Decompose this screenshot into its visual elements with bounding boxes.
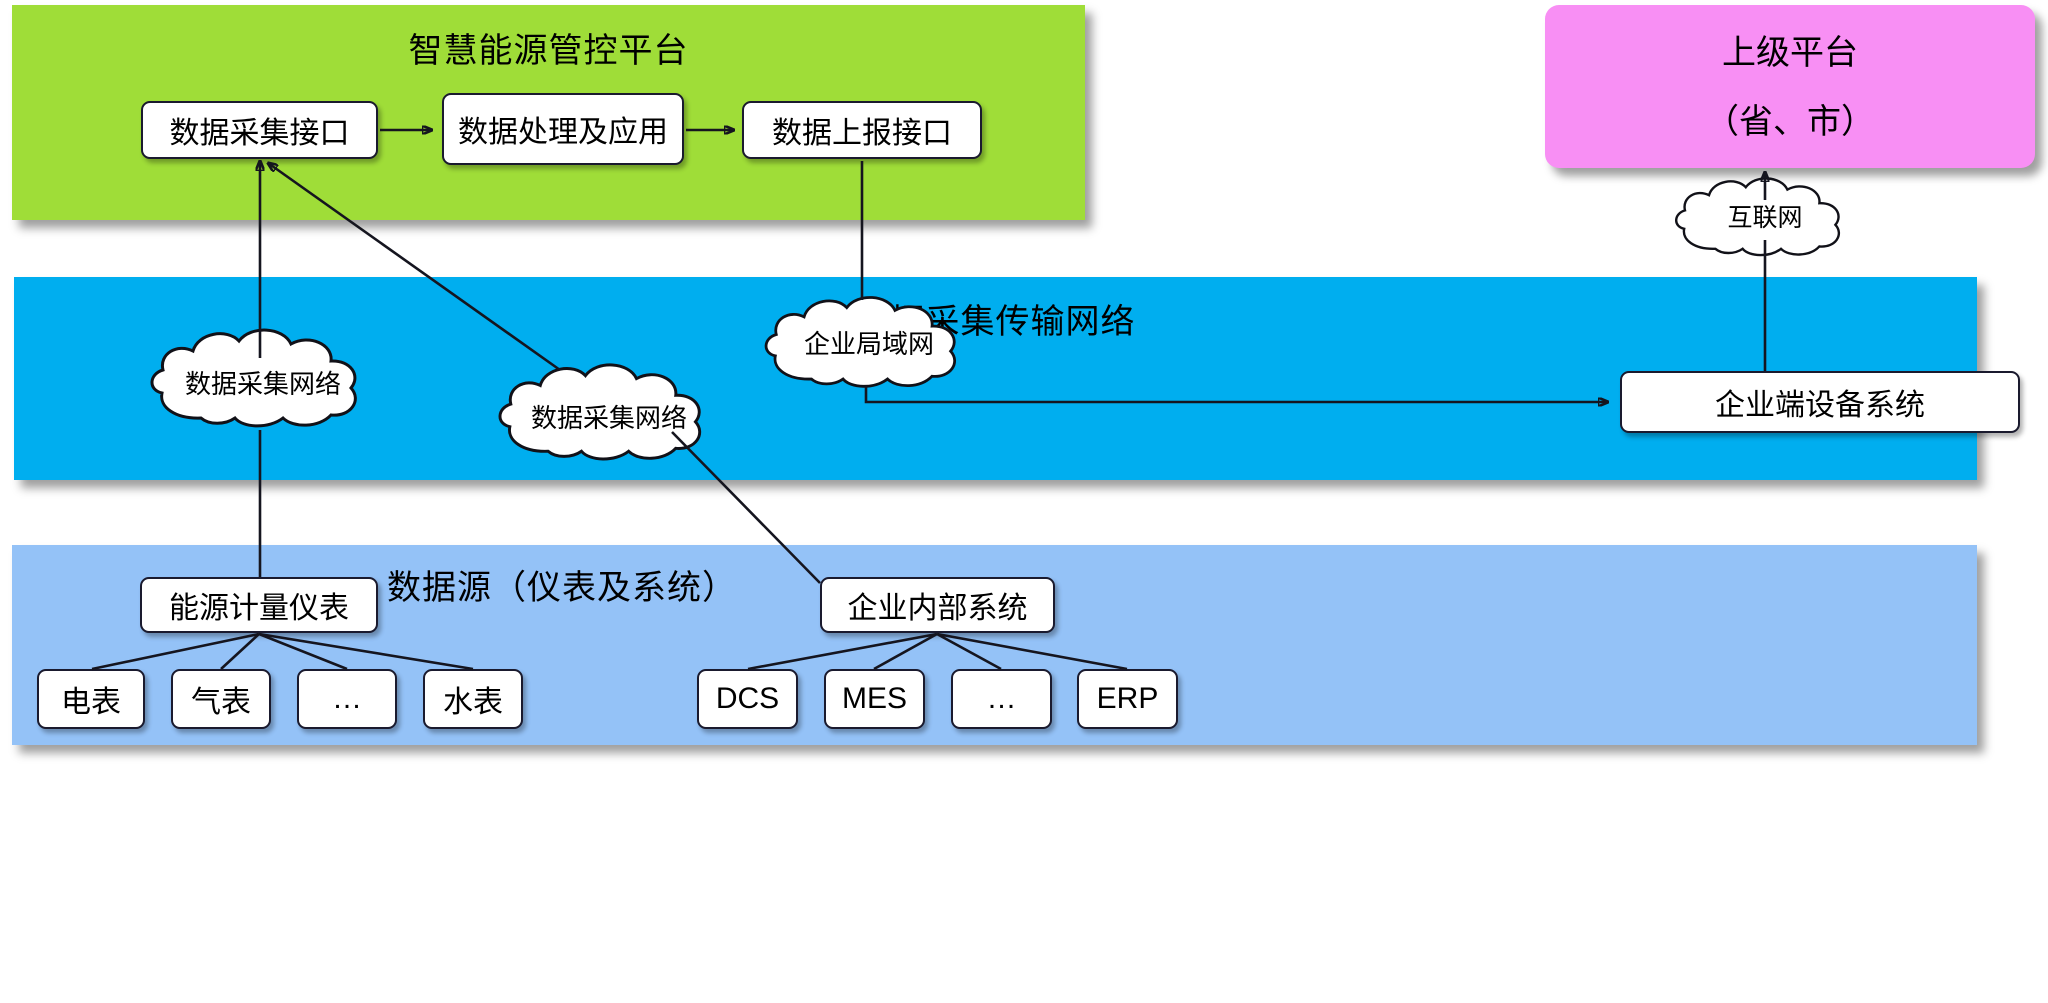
node-label: 数据采集接口 xyxy=(170,108,350,152)
node-enterprise-internal-system[interactable]: 企业内部系统 xyxy=(820,577,1055,633)
node-energy-metering-instruments[interactable]: 能源计量仪表 xyxy=(140,577,378,633)
node-mes[interactable]: MES xyxy=(824,669,925,729)
node-label: MES xyxy=(842,682,907,716)
node-data-processing-application[interactable]: 数据处理及应用 xyxy=(442,93,684,165)
cloud-shape-icon xyxy=(1648,172,1882,260)
node-electric-meter[interactable]: 电表 xyxy=(37,669,145,729)
node-label: 数据上报接口 xyxy=(772,108,952,152)
cloud-shape-icon xyxy=(484,357,734,465)
node-more-meters[interactable]: … xyxy=(297,669,397,729)
node-water-meter[interactable]: 水表 xyxy=(423,669,523,729)
node-label: … xyxy=(987,682,1017,716)
node-enterprise-device-system[interactable]: 企业端设备系统 xyxy=(1620,371,2020,433)
node-label: 能源计量仪表 xyxy=(169,583,349,627)
node-label: DCS xyxy=(716,682,779,716)
architecture-diagram: 智慧能源管控平台 数据采集传输网络 数据源（仪表及系统） 上级平台 （省、市） … xyxy=(0,0,2048,1003)
node-more-systems[interactable]: … xyxy=(951,669,1052,729)
node-label: ERP xyxy=(1097,682,1159,716)
cloud-enterprise-lan: 企业局域网 xyxy=(757,290,981,392)
node-data-collection-interface[interactable]: 数据采集接口 xyxy=(141,101,378,159)
superior-platform-box: 上级平台 （省、市） xyxy=(1545,5,2035,168)
node-label: … xyxy=(332,682,362,716)
node-dcs[interactable]: DCS xyxy=(697,669,798,729)
layer-title-platform: 智慧能源管控平台 xyxy=(12,23,1085,72)
cloud-shape-icon xyxy=(143,322,383,432)
cloud-data-collection-network-2: 数据采集网络 xyxy=(484,357,734,465)
cloud-shape-icon xyxy=(757,290,981,392)
node-erp[interactable]: ERP xyxy=(1077,669,1178,729)
cloud-internet: 互联网 xyxy=(1648,172,1882,260)
node-label: 企业端设备系统 xyxy=(1715,380,1925,424)
node-label: 电表 xyxy=(61,677,121,721)
cloud-data-collection-network-1: 数据采集网络 xyxy=(143,322,383,432)
superior-platform-subtitle: （省、市） xyxy=(1545,94,2035,143)
node-gas-meter[interactable]: 气表 xyxy=(171,669,271,729)
node-label: 企业内部系统 xyxy=(848,583,1028,627)
node-label: 水表 xyxy=(443,677,503,721)
node-data-report-interface[interactable]: 数据上报接口 xyxy=(742,101,982,159)
node-label: 数据处理及应用 xyxy=(458,107,668,151)
node-label: 气表 xyxy=(191,677,251,721)
superior-platform-title: 上级平台 xyxy=(1545,25,2035,74)
